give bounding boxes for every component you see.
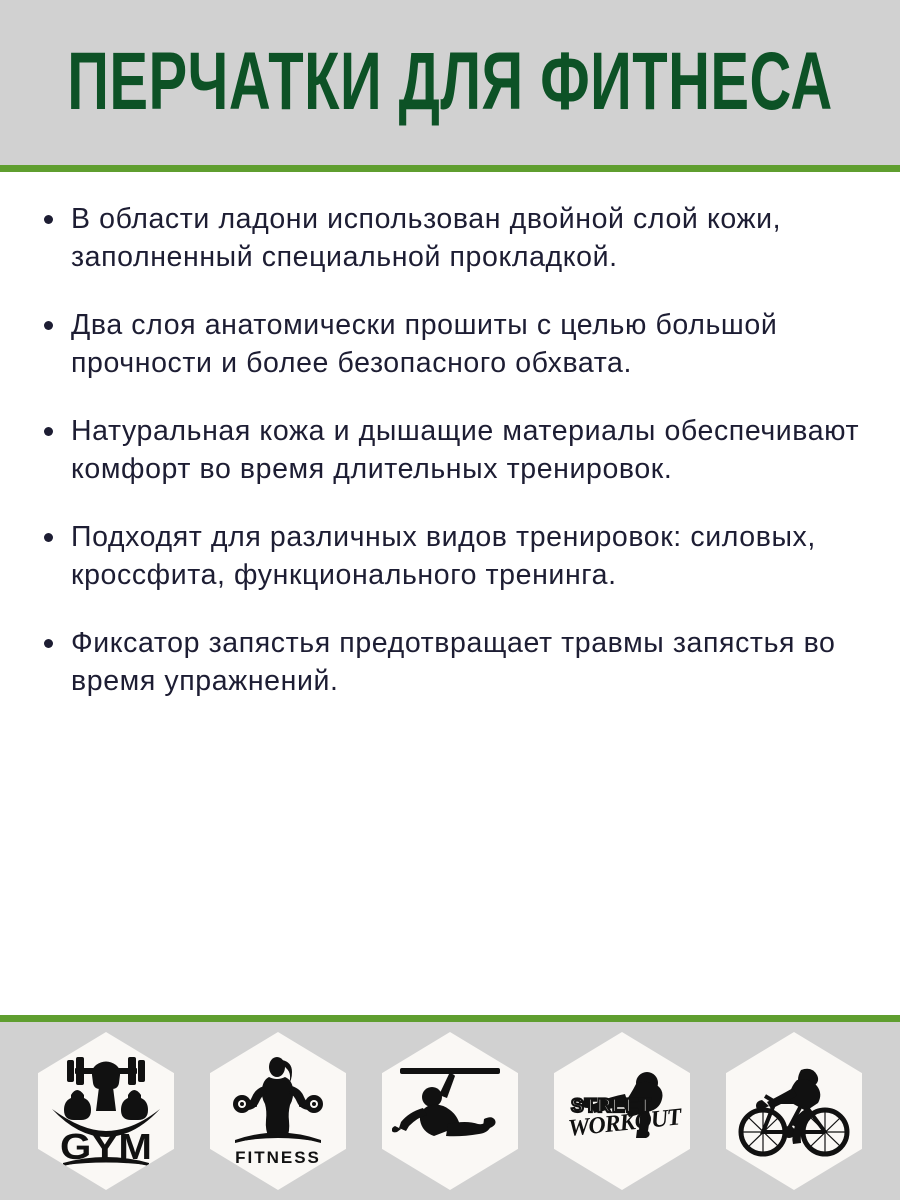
calisthenics-bar-athlete-icon [392, 1056, 508, 1166]
header-banner: ПЕРЧАТКИ ДЛЯ ФИТНЕСА [0, 0, 900, 165]
bullet-dot-icon [44, 639, 53, 648]
page-title: ПЕРЧАТКИ ДЛЯ ФИТНЕСА [67, 42, 832, 124]
fitness-woman-dumbbells-icon: FITNESS [222, 1050, 334, 1172]
divider-top [0, 165, 900, 172]
bullet-dot-icon [44, 215, 53, 224]
list-item-text: Натуральная кожа и дышащие материалы обе… [71, 415, 859, 485]
list-item: Подходят для различных видов тренировок:… [40, 518, 860, 594]
badge-fitness-label: FITNESS [235, 1148, 321, 1167]
badge-street-workout: STREET WORKOUT [554, 1032, 690, 1190]
badge-cycling [726, 1032, 862, 1190]
features-list: В области ладони использован двойной сло… [40, 200, 860, 700]
list-item: Два слоя анатомически прошиты с целью бо… [40, 306, 860, 382]
badge-calisthenics [382, 1032, 518, 1190]
list-item: Натуральная кожа и дышащие материалы обе… [40, 412, 860, 488]
gym-barbell-fist-icon: GYM [47, 1051, 165, 1171]
bullet-dot-icon [44, 427, 53, 436]
bullet-dot-icon [44, 533, 53, 542]
street-workout-planche-icon: STREET WORKOUT [561, 1056, 683, 1166]
list-item-text: Подходят для различных видов тренировок:… [71, 521, 816, 591]
cyclist-icon [735, 1056, 853, 1166]
list-item-text: В области ладони использован двойной сло… [71, 203, 781, 273]
list-item: В области ладони использован двойной сло… [40, 200, 860, 276]
badge-fitness: FITNESS [210, 1032, 346, 1190]
list-item-text: Два слоя анатомически прошиты с целью бо… [71, 309, 777, 379]
bullet-dot-icon [44, 321, 53, 330]
badge-gym: GYM [38, 1032, 174, 1190]
list-item: Фиксатор запястья предотвращает травмы з… [40, 624, 860, 700]
divider-bottom [0, 1015, 900, 1022]
footer-badges: GYM [0, 1022, 900, 1200]
poster: ПЕРЧАТКИ ДЛЯ ФИТНЕСА В области ладони ис… [0, 0, 900, 1200]
features-section: В области ладони использован двойной сло… [0, 172, 900, 1015]
list-item-text: Фиксатор запястья предотвращает травмы з… [71, 627, 835, 697]
